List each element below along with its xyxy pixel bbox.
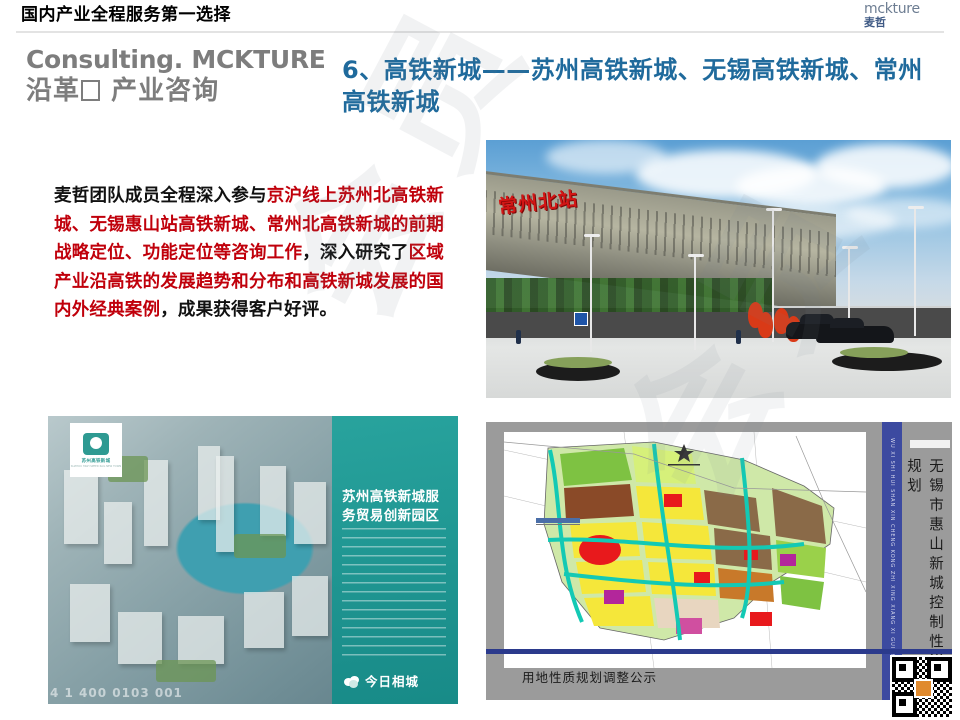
map-side-pinyin: WU XI SHI HUI SHAN XIN CHENG KONG ZHI XI… [889,438,895,666]
header-divider [16,31,944,33]
panel-body-text-lines [342,528,446,660]
building-block [104,502,132,564]
map-caption: 用地性质规划调整公示 [522,667,657,686]
left-title-chinese-b: 产业咨询 [101,76,219,106]
left-title-chinese: 沿革 产业咨询 [26,75,336,107]
paragraph-segment-1: 麦哲团队成员全程深入参与 [54,186,267,206]
image-watermark: 4 1 400 0103 001 [50,686,183,700]
building-block [294,482,326,544]
map-canvas [504,432,866,668]
cloud [546,140,666,174]
cloud [816,144,951,188]
green-space [156,660,216,682]
photo-changzhou-north-station: 常州北站 [486,140,951,398]
parked-car [816,326,894,343]
panel-footer-brand: 今日相城 [344,671,419,690]
tree-line [486,278,774,312]
logo-label-cn: 苏州高铁新城 [82,458,111,464]
building-block [216,456,234,552]
paragraph-segment-5: ，成果获得客户好评。 [160,300,337,320]
panel-title: 苏州高铁新城服务贸易创新园区 [342,488,448,526]
qr-center-logo [914,679,933,698]
page-title: 6、高铁新城——苏州高铁新城、无锡高铁新城、常州高铁新城 [342,54,942,118]
left-title-english: Consulting. MCKTURE [26,44,336,75]
building-block [70,584,110,642]
header-tagline: 国内产业全程服务第一选择 [21,4,231,26]
building-block [260,466,286,536]
photo-suzhou-hsr-new-town: 苏州高铁新城 SUZHOU HIGH SPEED RAIL NEW TOWN 苏… [48,416,458,704]
building-block [178,616,224,664]
building-block [64,470,98,544]
pedestrian [736,330,741,344]
logo-label-en: SUZHOU HIGH SPEED RAIL NEW TOWN [71,465,121,468]
logo-mark-icon [83,433,109,455]
qr-code[interactable] [890,655,954,719]
suzhou-info-panel: 苏州高铁新城服务贸易创新园区 今日相城 [332,416,458,704]
building-block [292,576,328,636]
street-lamp [694,254,696,350]
zoning-map-svg [504,432,866,668]
planter-ring [832,352,942,371]
left-title-chinese-a: 沿革 [26,76,80,106]
suzhou-hsr-logo: 苏州高铁新城 SUZHOU HIGH SPEED RAIL NEW TOWN [70,423,122,477]
left-title-block: Consulting. MCKTURE 沿革 产业咨询 [26,44,336,107]
street-lamp [590,234,592,352]
map-title-divider [910,440,950,448]
panel-footer-label: 今日相城 [365,674,419,689]
body-paragraph: 麦哲团队成员全程深入参与京沪线上苏州北高铁新城、无锡惠山站高铁新城、常州北高铁新… [54,182,444,325]
building-block [118,612,162,664]
missing-glyph-box [81,80,100,101]
brand-name-en: mckture [864,2,948,16]
map-bottom-rule [486,649,952,654]
red-balloon [758,312,773,338]
slide-canvas: 国内产业全程服务第一选择 mckture 麦哲 Consulting. MCKT… [0,0,960,720]
dots-icon [344,676,362,687]
pedestrian-crossing-sign [574,312,588,326]
street-lamp [914,206,916,336]
pedestrian [516,330,521,344]
brand-logo: mckture 麦哲 [852,2,948,30]
paragraph-segment-3: ，深入研究了 [302,243,408,263]
green-space [234,534,286,558]
building-block [244,592,284,648]
photo-wuxi-huishan-zoning-map: WU XI SHI HUI SHAN XIN CHENG KONG ZHI XI… [486,422,952,700]
top-header-bar: 国内产业全程服务第一选择 mckture 麦哲 [0,0,960,33]
brand-name-cn: 麦哲 [864,17,948,29]
planter-ring [536,362,620,381]
